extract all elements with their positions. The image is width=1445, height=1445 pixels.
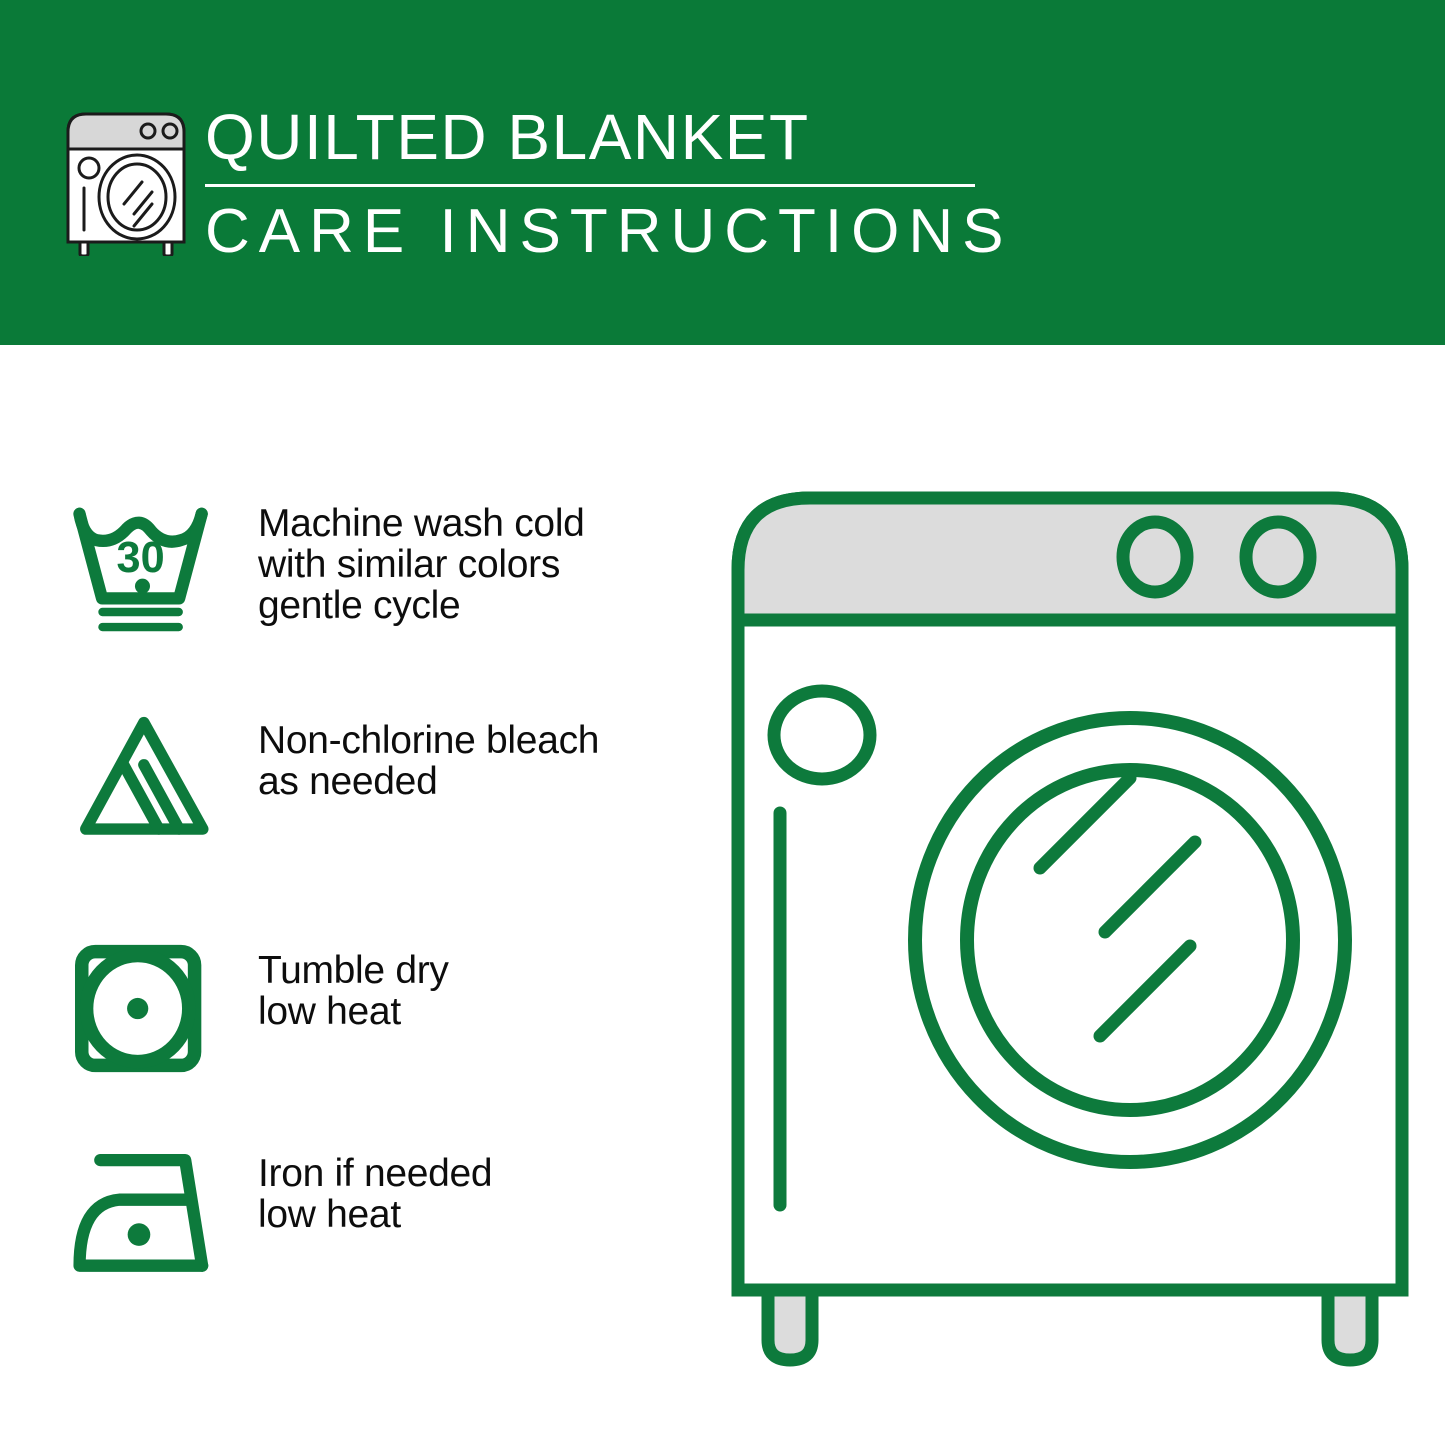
page-title: QUILTED BLANKET: [205, 98, 995, 176]
care-item-label: Tumble dry low heat: [258, 942, 449, 1032]
bleach-triangle-icon: [70, 712, 230, 849]
wash-tub-30-icon: 30: [70, 495, 230, 641]
care-item-tumble-dry: Tumble dry low heat: [70, 942, 690, 1082]
leg-left: [768, 1290, 812, 1360]
care-instruction-list: 30 Machine wash cold with similar colors…: [0, 345, 700, 1445]
care-instructions-page: QUILTED BLANKET CARE INSTRUCTIONS: [0, 0, 1445, 1445]
care-item-label: Machine wash cold with similar colors ge…: [258, 495, 585, 626]
header-title-group: QUILTED BLANKET CARE INSTRUCTIONS: [205, 98, 995, 269]
title-divider: [205, 184, 975, 187]
page-subtitle: CARE INSTRUCTIONS: [205, 195, 995, 269]
wash-temperature-label: 30: [117, 534, 165, 582]
care-item-bleach: Non-chlorine bleach as needed: [70, 712, 690, 849]
care-item-iron: Iron if needed low heat: [70, 1145, 690, 1282]
tumble-dry-icon: [70, 942, 230, 1082]
care-item-machine-wash: 30 Machine wash cold with similar colors…: [70, 495, 690, 641]
care-item-label: Iron if needed low heat: [258, 1145, 492, 1235]
front-load-washing-machine-illustration: [700, 460, 1440, 1380]
leg-right: [1328, 1290, 1372, 1360]
iron-icon: [70, 1145, 230, 1282]
header-band: QUILTED BLANKET CARE INSTRUCTIONS: [0, 0, 1445, 345]
washing-machine-icon: [62, 104, 190, 256]
care-item-label: Non-chlorine bleach as needed: [258, 712, 599, 802]
